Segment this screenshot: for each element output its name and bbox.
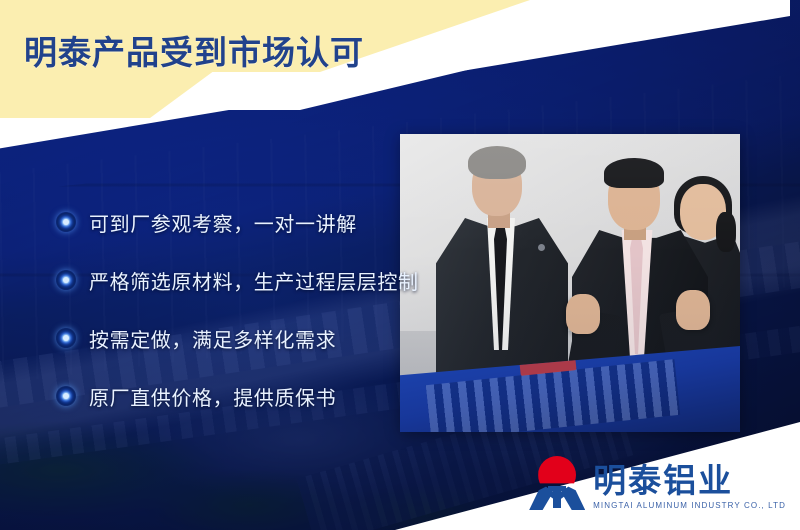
logo-english-name: MINGTAI ALUMINUM INDUSTRY CO., LTD <box>593 501 786 510</box>
logo-chinese-name: 明泰铝业 <box>593 464 733 499</box>
target-dot-icon <box>56 270 76 290</box>
team-photo <box>400 134 740 432</box>
mingtai-sun-mountain-icon <box>529 456 585 510</box>
logo-pillar-shape <box>553 486 561 508</box>
target-dot-icon <box>56 328 76 348</box>
target-dot-icon <box>56 212 76 232</box>
page-title: 明泰产品受到市场认可 <box>24 26 364 74</box>
promo-banner: 明泰产品受到市场认可 可到厂参观考察，一对一讲解 严格筛选原材料，生产过程层层控… <box>0 0 800 530</box>
list-item: 严格筛选原材料，生产过程层层控制 <box>56 266 419 294</box>
feature-text: 可到厂参观考察，一对一讲解 <box>89 208 357 237</box>
feature-text: 按需定做，满足多样化需求 <box>89 324 336 353</box>
list-item: 按需定做，满足多样化需求 <box>56 324 419 352</box>
company-logo: 明泰铝业 MINGTAI ALUMINUM INDUSTRY CO., LTD <box>529 456 786 510</box>
target-dot-icon <box>56 386 76 406</box>
feature-text: 原厂直供价格，提供质保书 <box>89 382 336 411</box>
list-item: 原厂直供价格，提供质保书 <box>56 382 419 410</box>
list-item: 可到厂参观考察，一对一讲解 <box>56 208 419 236</box>
feature-list: 可到厂参观考察，一对一讲解 严格筛选原材料，生产过程层层控制 按需定做，满足多样… <box>56 208 419 410</box>
logo-text-block: 明泰铝业 MINGTAI ALUMINUM INDUSTRY CO., LTD <box>593 464 786 510</box>
feature-text: 严格筛选原材料，生产过程层层控制 <box>89 266 419 295</box>
